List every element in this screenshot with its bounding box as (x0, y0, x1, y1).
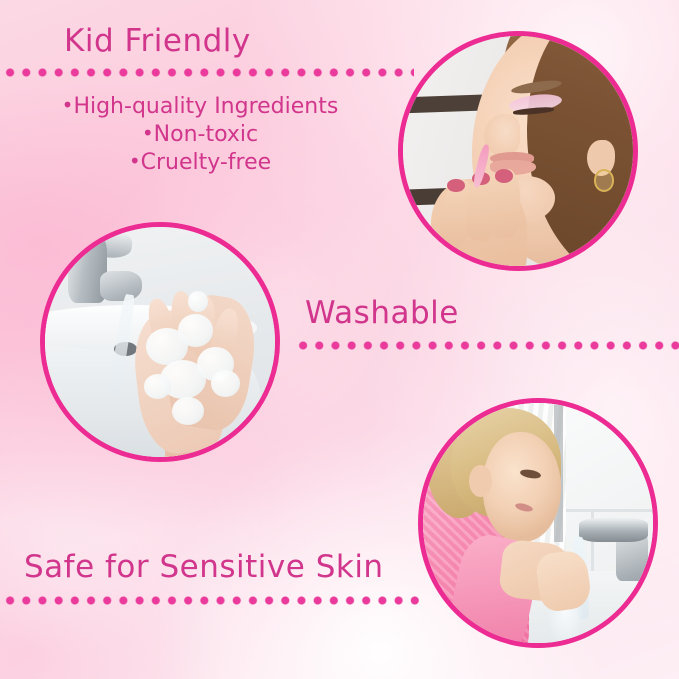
bullet-icon: • (62, 93, 74, 117)
safe-for-sensitive-skin-heading: Safe for Sensitive Skin (24, 552, 384, 583)
product-feature-infographic: Kid Friendly •High-quality Ingredients •… (0, 0, 679, 679)
bullet-icon: • (129, 149, 141, 173)
lip-gloss-scene (403, 36, 633, 266)
dotted-divider-bottom (2, 596, 422, 605)
photo-girl-applying-lip-gloss (398, 31, 638, 271)
feature-item-cruelty-free: •Cruelty-free (0, 148, 400, 176)
feature-item-non-toxic: •Non-toxic (0, 120, 400, 148)
handwash-scene (45, 227, 275, 457)
bullet-icon: • (142, 121, 154, 145)
feature-label: High-quality Ingredients (73, 94, 338, 119)
washable-heading: Washable (305, 298, 459, 329)
feature-item-high-quality-ingredients: •High-quality Ingredients (0, 92, 400, 120)
faucet-spout (100, 271, 141, 301)
photo-toddler-washing-hands (418, 398, 658, 648)
toddler-sink-scene (423, 403, 653, 643)
feature-list: •High-quality Ingredients •Non-toxic •Cr… (0, 92, 400, 176)
kid-friendly-heading: Kid Friendly (64, 26, 251, 57)
ear (469, 465, 492, 496)
earring (594, 169, 614, 191)
toddler-face (483, 432, 561, 542)
dotted-divider-top (2, 68, 414, 77)
faucet (579, 518, 648, 542)
feature-label: Cruelty-free (141, 150, 272, 175)
photo-soapy-hands-under-faucet (40, 222, 280, 462)
soap-foam (188, 291, 209, 312)
soap-foam (178, 314, 213, 346)
dotted-divider-middle (295, 341, 679, 350)
feature-label: Non-toxic (154, 122, 258, 147)
soap-foam (172, 397, 204, 425)
